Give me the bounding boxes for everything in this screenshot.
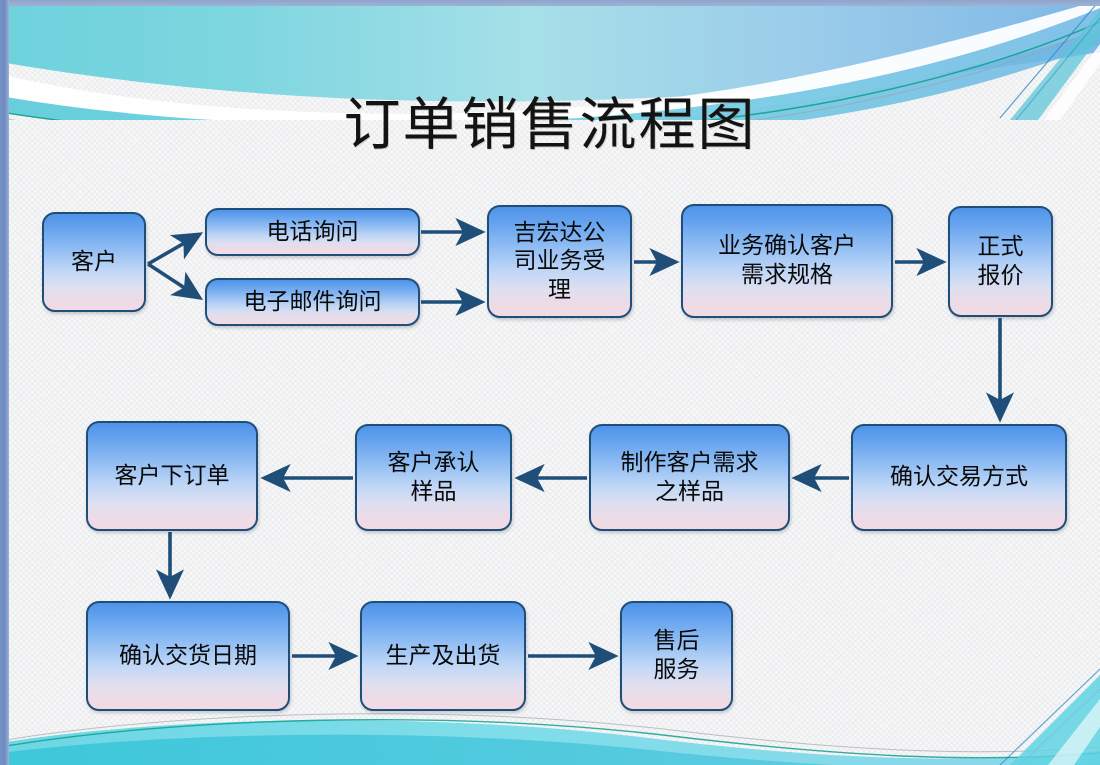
slide-top-border: [0, 0, 1100, 6]
slide-canvas: 订单销售流程图: [0, 0, 1100, 765]
node-make-sample-label: 制作客户需求 之样品: [621, 449, 759, 506]
page-title: 订单销售流程图: [0, 96, 1100, 156]
node-confirm-deal-label: 确认交易方式: [890, 463, 1028, 492]
node-approve-sample-line2: 样品: [388, 478, 480, 507]
node-after-sales-line2: 服务: [654, 656, 700, 685]
node-confirm-spec-label: 业务确认客户 需求规格: [718, 232, 856, 289]
node-customer-label: 客户: [71, 248, 117, 277]
node-email-inquiry-label: 电子邮件询问: [244, 288, 382, 317]
node-approve-sample-label: 客户承认 样品: [388, 449, 480, 506]
node-company-intake[interactable]: 吉宏达公 司业务受 理: [487, 205, 632, 318]
node-formal-quote[interactable]: 正式 报价: [948, 206, 1053, 317]
slide-left-border: [0, 0, 9, 765]
node-phone-inquiry-label: 电话询问: [267, 218, 359, 247]
node-confirm-spec-line2: 需求规格: [718, 261, 856, 290]
node-confirm-date[interactable]: 确认交货日期: [86, 601, 290, 711]
node-confirm-date-label: 确认交货日期: [119, 642, 257, 671]
node-after-sales[interactable]: 售后 服务: [620, 601, 733, 711]
node-make-sample-line2: 之样品: [621, 478, 759, 507]
node-confirm-deal[interactable]: 确认交易方式: [851, 424, 1067, 531]
node-company-intake-line2: 司业务受: [514, 247, 606, 276]
node-produce-ship[interactable]: 生产及出货: [360, 601, 526, 711]
node-phone-inquiry[interactable]: 电话询问: [205, 208, 420, 256]
node-make-sample-line1: 制作客户需求: [621, 449, 759, 478]
node-formal-quote-line2: 报价: [978, 262, 1024, 291]
node-place-order-label: 客户下订单: [115, 462, 230, 491]
node-place-order[interactable]: 客户下订单: [86, 421, 258, 531]
node-make-sample[interactable]: 制作客户需求 之样品: [589, 424, 790, 531]
node-confirm-spec[interactable]: 业务确认客户 需求规格: [681, 204, 893, 318]
node-customer[interactable]: 客户: [42, 212, 146, 312]
node-company-intake-label: 吉宏达公 司业务受 理: [514, 219, 606, 305]
node-company-intake-line1: 吉宏达公: [514, 219, 606, 248]
node-formal-quote-label: 正式 报价: [978, 233, 1024, 290]
node-after-sales-label: 售后 服务: [654, 627, 700, 684]
node-approve-sample-line1: 客户承认: [388, 449, 480, 478]
node-confirm-spec-line1: 业务确认客户: [718, 232, 856, 261]
node-approve-sample[interactable]: 客户承认 样品: [355, 424, 512, 531]
node-company-intake-line3: 理: [514, 276, 606, 305]
node-after-sales-line1: 售后: [654, 627, 700, 656]
node-formal-quote-line1: 正式: [978, 233, 1024, 262]
node-produce-ship-label: 生产及出货: [386, 642, 501, 671]
node-email-inquiry[interactable]: 电子邮件询问: [205, 278, 420, 326]
